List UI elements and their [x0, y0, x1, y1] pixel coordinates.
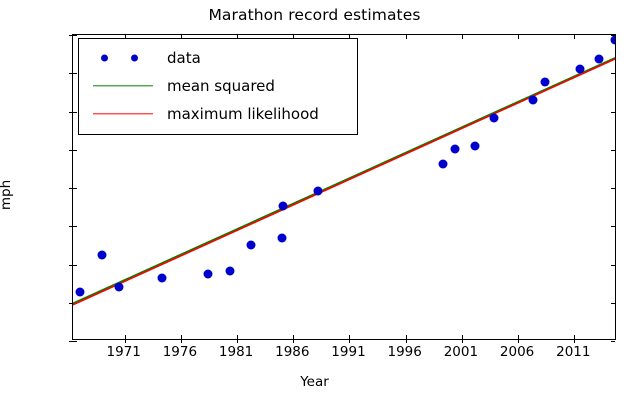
data-point [246, 241, 255, 250]
x-tick-mark [181, 339, 182, 343]
x-tick-mark [349, 339, 350, 343]
data-point [575, 64, 584, 73]
legend-line-swatch [93, 113, 153, 114]
x-tick-label: 2011 [556, 344, 590, 360]
x-tick-label: 1996 [388, 344, 422, 360]
x-tick-label: 1981 [219, 344, 253, 360]
data-point [490, 114, 499, 123]
legend-label: maximum likelihood [159, 105, 319, 123]
legend-label: data [159, 49, 201, 67]
data-point [279, 201, 288, 210]
x-axis-label: Year [0, 374, 629, 390]
data-point [278, 233, 287, 242]
x-tick-mark [406, 339, 407, 343]
legend-line-icon [87, 77, 159, 95]
data-point [541, 77, 550, 86]
data-point [451, 144, 460, 153]
data-point [157, 273, 166, 282]
x-tick-mark [574, 339, 575, 343]
data-point [75, 288, 84, 297]
legend-line-icon [87, 105, 159, 123]
data-point [98, 250, 107, 259]
data-point [438, 159, 447, 168]
legend-entry: data [87, 44, 348, 72]
data-point [610, 36, 615, 45]
x-tick-label: 1976 [163, 344, 197, 360]
x-tick-mark [518, 339, 519, 343]
x-tick-label: 1991 [331, 344, 365, 360]
x-tick-label: 1986 [275, 344, 309, 360]
legend-entry: mean squared [87, 72, 348, 100]
y-tick-mark [611, 341, 615, 342]
y-tick-mark [73, 341, 77, 342]
data-point [203, 270, 212, 279]
chart-legend: datamean squaredmaximum likelihood [78, 38, 358, 135]
figure-canvas: Marathon record estimates mph Year 19711… [0, 0, 629, 406]
chart-title: Marathon record estimates [0, 6, 629, 24]
x-tick-mark [125, 339, 126, 343]
data-point [115, 283, 124, 292]
legend-dot-icon [101, 55, 108, 62]
data-point [314, 187, 323, 196]
legend-label: mean squared [159, 77, 275, 95]
data-point [595, 55, 604, 64]
legend-dot-icon [131, 55, 138, 62]
x-tick-mark [237, 339, 238, 343]
data-point [471, 141, 480, 150]
y-axis-label: mph [0, 180, 14, 210]
x-tick-label: 2006 [500, 344, 534, 360]
legend-line-swatch [93, 85, 153, 86]
data-point [528, 96, 537, 105]
x-tick-mark [462, 339, 463, 343]
legend-entry: maximum likelihood [87, 100, 348, 128]
x-tick-label: 1971 [107, 344, 141, 360]
legend-marker-icon [87, 49, 159, 67]
x-tick-mark [293, 339, 294, 343]
x-tick-label: 2001 [444, 344, 478, 360]
data-point [226, 267, 235, 276]
